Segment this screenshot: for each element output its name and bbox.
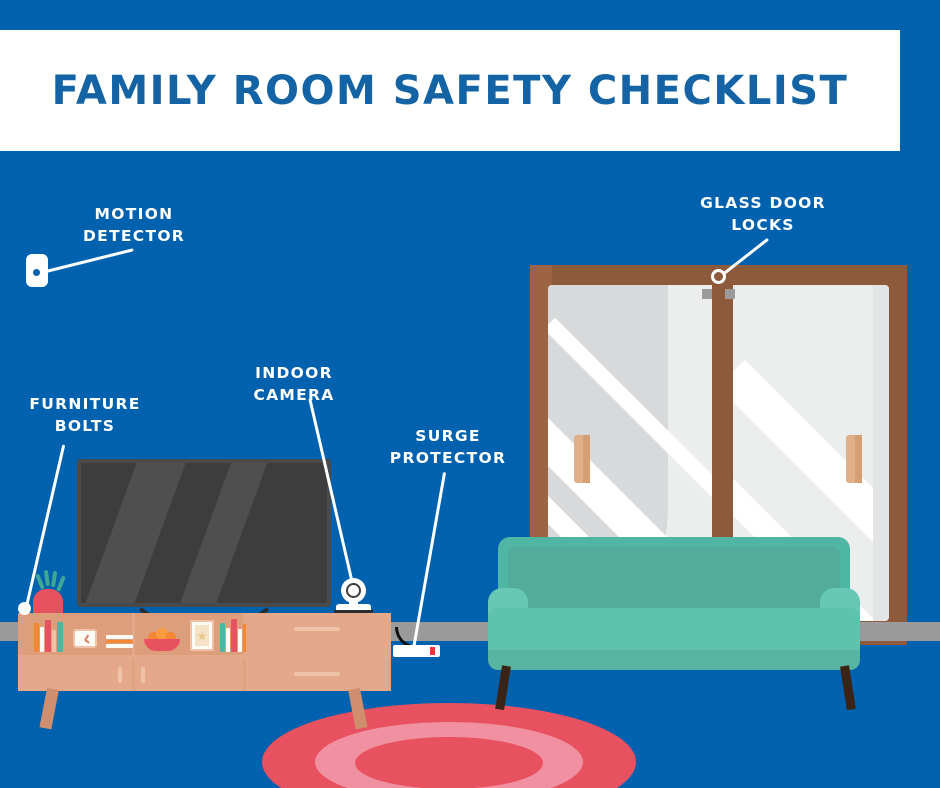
console-drawer[interactable]	[246, 658, 391, 691]
stacked-book	[106, 640, 133, 643]
drawer-handle[interactable]	[118, 667, 122, 683]
console-drawer-row	[18, 658, 391, 691]
callout-label-motion-detector: MOTION DETECTOR	[60, 203, 208, 248]
drawer-handle[interactable]	[141, 667, 145, 683]
plant-leaf	[51, 571, 57, 587]
media-console: ★	[18, 613, 391, 691]
plant-leaf	[44, 570, 50, 586]
plant-leaf	[56, 575, 66, 591]
tv-screen	[81, 463, 327, 603]
sofa-seat-shadow	[488, 650, 860, 670]
callout-label-glass-door-locks: GLASS DOOR LOCKS	[688, 192, 838, 237]
door-handle-left[interactable]	[574, 435, 590, 483]
title-banner: Family Room Safety Checklist	[0, 30, 900, 151]
sofa-leg-left	[495, 665, 511, 710]
shelf-book	[45, 620, 51, 652]
callout-label-furniture-bolts: FURNITURE BOLTS	[12, 393, 158, 438]
plant-leaf	[35, 573, 45, 589]
shelf-book	[226, 628, 230, 652]
tv-screen-glare	[81, 463, 195, 603]
stacked-book	[106, 644, 133, 648]
shelf-book	[40, 627, 44, 652]
clock-hand	[84, 639, 89, 644]
safety-checklist-poster: ★	[0, 0, 940, 788]
shelf-book	[238, 629, 242, 652]
sofa-leg-right	[840, 665, 856, 710]
door-handle-shade	[855, 435, 862, 483]
callout-label-indoor-camera: INDOOR CAMERA	[222, 362, 366, 407]
console-drawer[interactable]	[135, 658, 246, 691]
photo-inner: ★	[195, 625, 209, 646]
console-shelf-cell	[18, 613, 135, 655]
shelf-book	[52, 630, 56, 652]
stacked-book	[106, 635, 133, 639]
shelf-book	[34, 623, 39, 652]
drawer-handle[interactable]	[294, 627, 340, 631]
drawer-handle[interactable]	[294, 672, 340, 676]
surge-protector-indicator	[430, 647, 435, 655]
rug-inner-ring	[355, 737, 543, 788]
callout-label-surge-protector: SURGE PROTECTOR	[376, 425, 520, 470]
glass-door-lock-left[interactable]	[702, 289, 712, 299]
console-drawer[interactable]	[18, 658, 135, 691]
television	[77, 459, 331, 607]
fruit-bowl	[144, 639, 180, 651]
shelf-book	[231, 619, 237, 652]
tv-screen-glare	[163, 463, 277, 603]
door-handle-shade	[583, 435, 590, 483]
console-shelf-drawer[interactable]	[246, 613, 391, 655]
shelf-book	[220, 623, 225, 652]
shelf-book	[57, 622, 63, 652]
door-handle-right[interactable]	[846, 435, 862, 483]
console-leg-left	[39, 688, 58, 730]
glass-door-lock-right[interactable]	[725, 289, 735, 299]
framed-photo: ★	[190, 620, 214, 651]
leader-line-motion-detector	[46, 248, 134, 273]
glass-shade-right	[873, 285, 889, 621]
console-shelf-row: ★	[18, 613, 391, 655]
camera-lens-icon	[346, 583, 361, 598]
console-shelf-cell: ★	[135, 613, 246, 655]
motion-detector-led	[33, 269, 40, 276]
shelf-clock	[73, 629, 97, 648]
page-title: Family Room Safety Checklist	[52, 68, 849, 114]
star-icon: ★	[196, 629, 208, 642]
